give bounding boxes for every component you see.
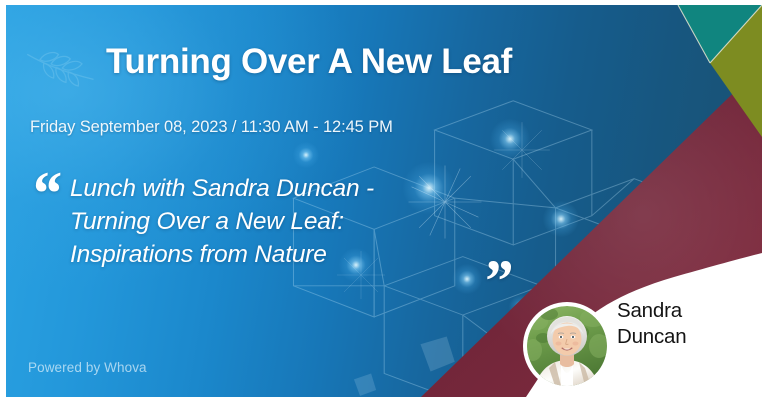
session-quote-line: Turning Over a New Leaf: [70, 206, 490, 239]
avatar-photo [527, 306, 607, 386]
card-canvas: Turning Over A New Leaf Friday September… [6, 5, 762, 397]
quote-close-icon: ” [482, 251, 507, 311]
speaker-name-line: Sandra [617, 298, 762, 324]
session-quote-line: Lunch with Sandra Duncan - [70, 173, 490, 206]
quote-open-icon: “ [30, 163, 56, 225]
speaker-name-line: Duncan [617, 324, 762, 350]
event-promo-card: Turning Over A New Leaf Friday September… [0, 0, 768, 403]
speaker-name: Sandra Duncan [617, 298, 762, 350]
avatar [527, 306, 607, 386]
powered-by-label: Powered by Whova [28, 360, 147, 375]
event-datetime: Friday September 08, 2023 / 11:30 AM - 1… [30, 118, 393, 137]
page-title: Turning Over A New Leaf [106, 43, 666, 80]
session-quote: Lunch with Sandra Duncan - Turning Over … [70, 173, 490, 271]
session-quote-line: Inspirations from Nature [70, 239, 490, 272]
